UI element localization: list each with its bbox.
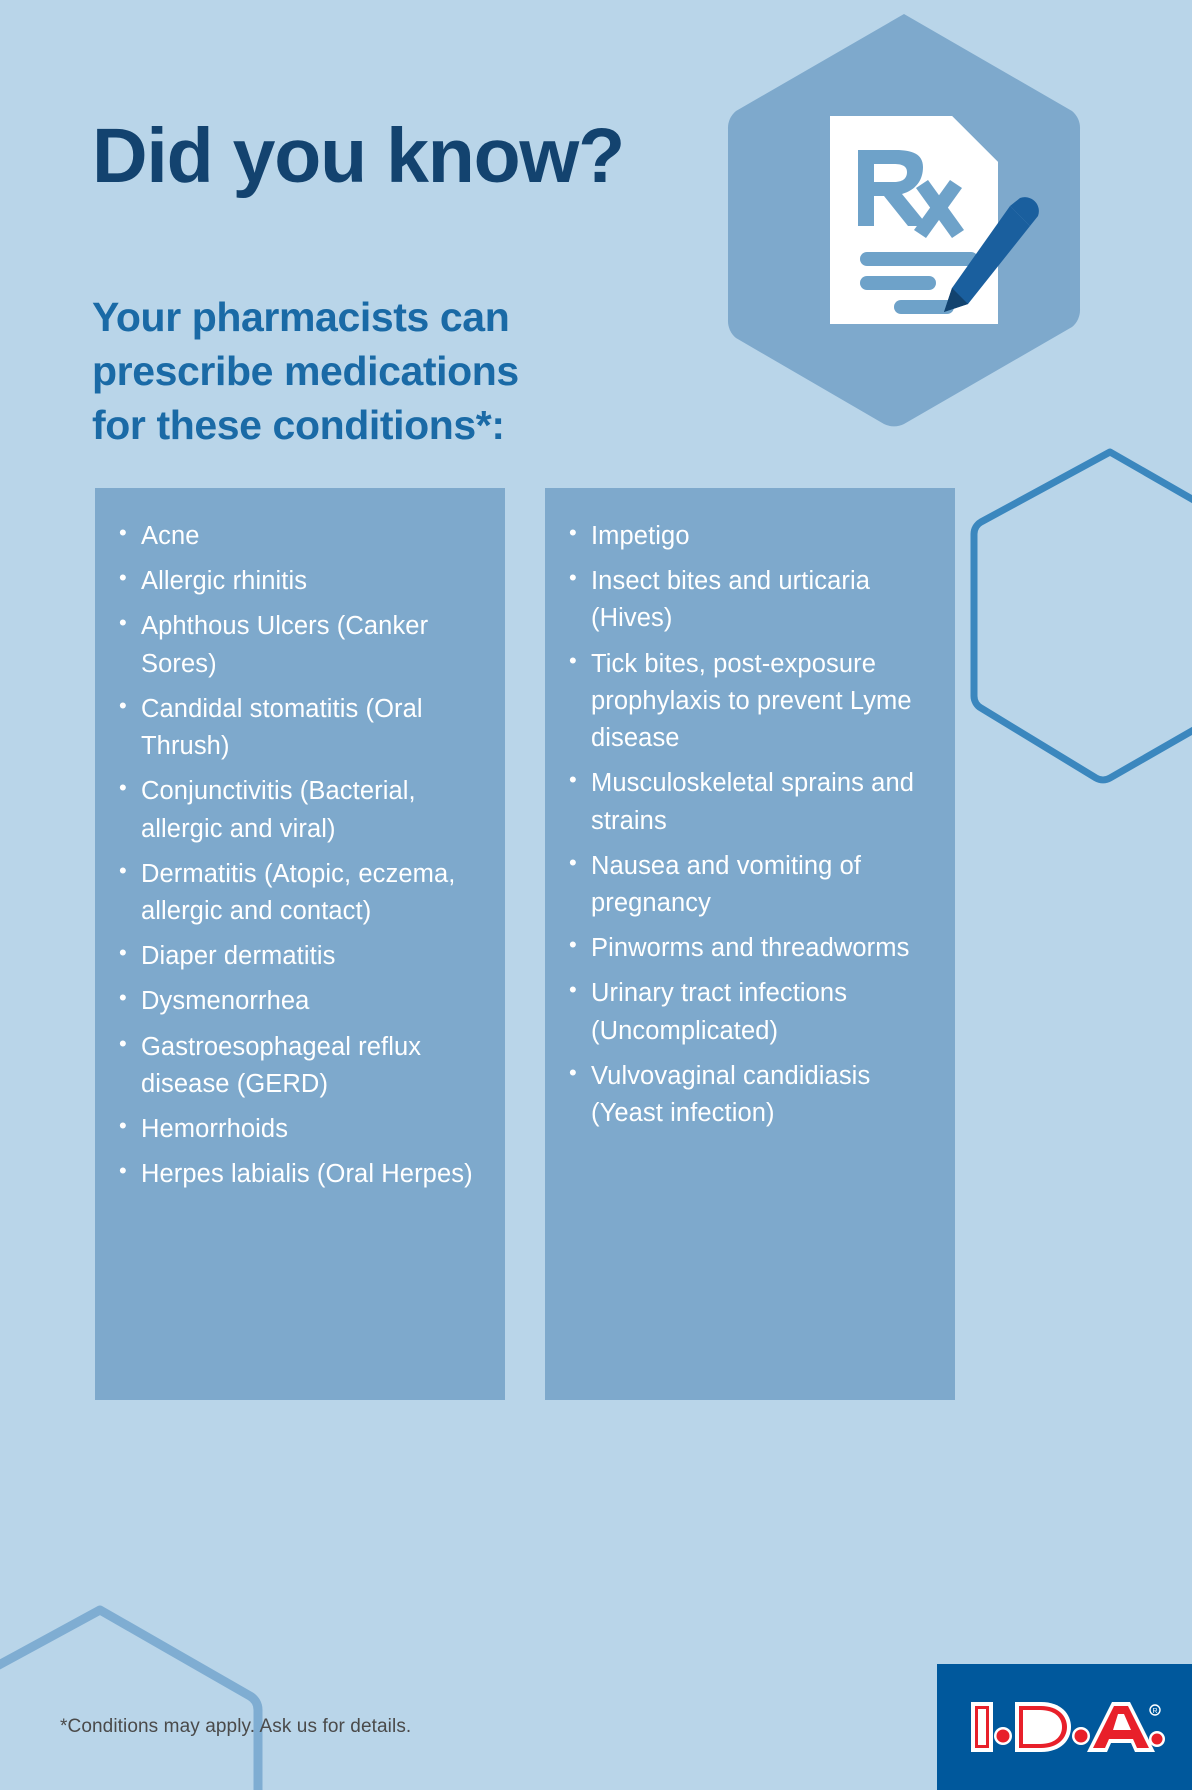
list-item: Impetigo: [563, 518, 937, 555]
list-item: Gastroesophageal reflux disease (GERD): [113, 1029, 487, 1103]
hexagon-outline-icon: [0, 1600, 280, 1790]
list-item: Allergic rhinitis: [113, 563, 487, 600]
hexagon-outline-icon: [960, 440, 1192, 790]
page-title: Did you know?: [92, 118, 624, 195]
list-item: Nausea and vomiting of pregnancy: [563, 848, 937, 922]
poster-canvas: Did you know? Your pharmacists can presc…: [0, 0, 1192, 1790]
list-item: Dermatitis (Atopic, eczema, allergic and…: [113, 856, 487, 930]
list-item: Insect bites and urticaria (Hives): [563, 563, 937, 637]
list-item: Candidal stomatitis (Oral Thrush): [113, 691, 487, 765]
list-item: Musculoskeletal sprains and strains: [563, 765, 937, 839]
prescription-rx-document-icon: [824, 110, 1039, 330]
conditions-list-right: Impetigo Insect bites and urticaria (Hiv…: [563, 518, 937, 1132]
conditions-list-left: Acne Allergic rhinitis Aphthous Ulcers (…: [113, 518, 487, 1194]
subtitle-line-3: for these conditions*:: [92, 398, 632, 452]
conditions-panel-left: Acne Allergic rhinitis Aphthous Ulcers (…: [95, 488, 505, 1400]
list-item: Urinary tract infections (Uncomplicated): [563, 975, 937, 1049]
ida-logo: R: [937, 1664, 1192, 1790]
list-item: Diaper dermatitis: [113, 938, 487, 975]
list-item: Tick bites, post-exposure prophylaxis to…: [563, 646, 937, 758]
footnote-text: *Conditions may apply. Ask us for detail…: [60, 1716, 411, 1738]
subtitle-line-1: Your pharmacists can: [92, 290, 632, 344]
subtitle-line-2: prescribe medications: [92, 344, 632, 398]
list-item: Conjunctivitis (Bacterial, allergic and …: [113, 773, 487, 847]
list-item: Aphthous Ulcers (Canker Sores): [113, 608, 487, 682]
ida-logo-mark: R: [965, 1692, 1165, 1762]
svg-text:R: R: [1152, 1708, 1157, 1715]
list-item: Acne: [113, 518, 487, 555]
list-item: Pinworms and threadworms: [563, 930, 937, 967]
list-item: Vulvovaginal candidiasis (Yeast infectio…: [563, 1058, 937, 1132]
list-item: Herpes labialis (Oral Herpes): [113, 1156, 487, 1193]
list-item: Hemorrhoids: [113, 1111, 487, 1148]
conditions-panel-right: Impetigo Insect bites and urticaria (Hiv…: [545, 488, 955, 1400]
page-subtitle: Your pharmacists can prescribe medicatio…: [92, 290, 632, 452]
list-item: Dysmenorrhea: [113, 983, 487, 1020]
